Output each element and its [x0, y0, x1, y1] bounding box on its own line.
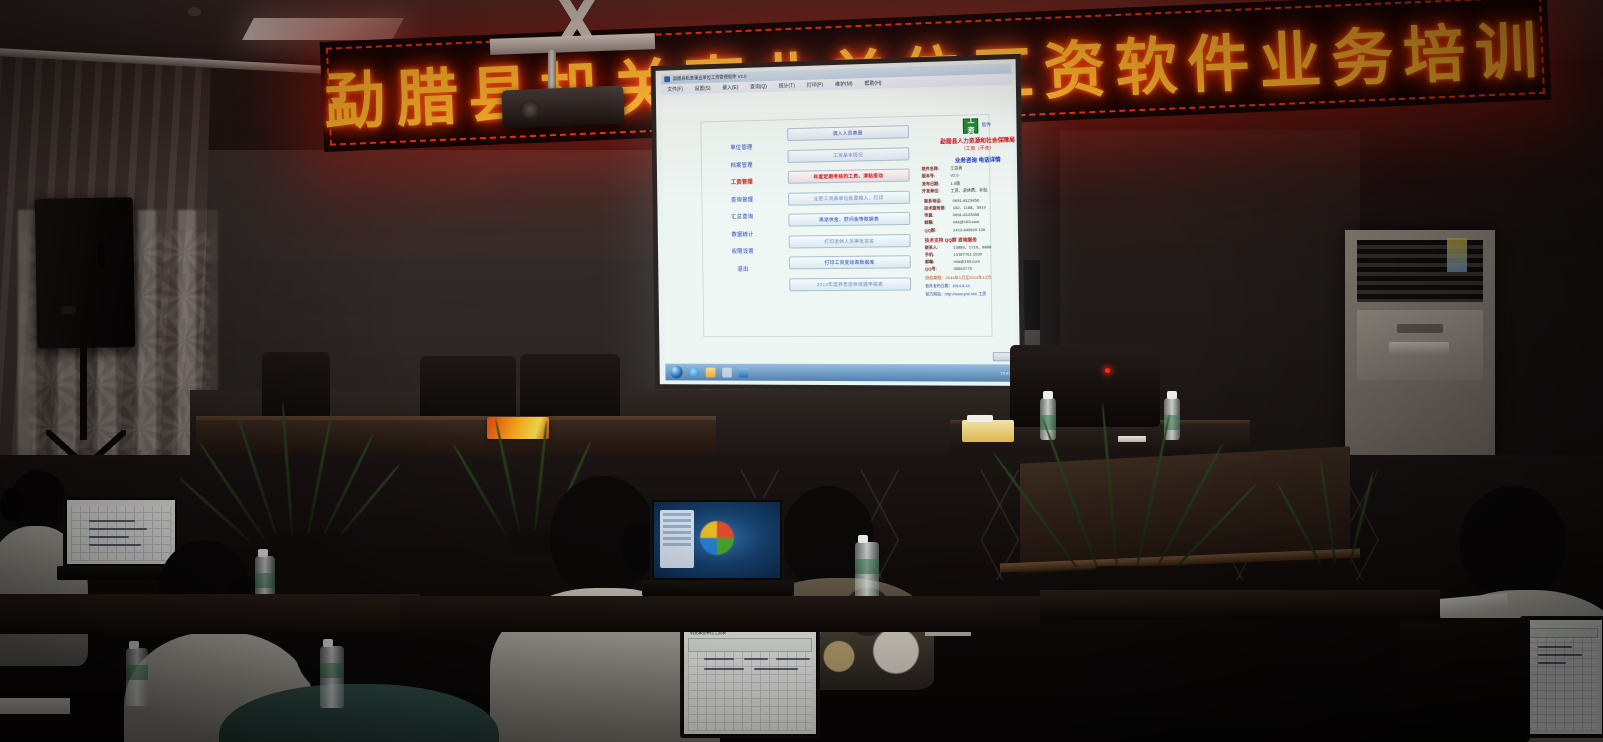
- equipment-power-led-icon: [1105, 368, 1110, 373]
- laptop-lid: 机关事业单位工资表: [680, 620, 820, 738]
- nav-item-query[interactable]: 查询管理: [731, 195, 753, 203]
- contact-key: 联系电话:: [924, 198, 951, 205]
- menu-item-print[interactable]: 打印(P): [807, 81, 824, 88]
- nav-item-unit[interactable]: 单位管理: [730, 143, 752, 151]
- ie-icon[interactable]: [689, 367, 699, 377]
- calculator-icon[interactable]: [722, 367, 732, 377]
- laptop-bag: [1400, 618, 1530, 742]
- info-subtitle: （工资（不含）: [921, 144, 1020, 153]
- app-left-nav[interactable]: 单位管理 档案管理 工资管理 查询管理 汇总查询 数据统计 权限设置 退出: [713, 143, 771, 273]
- screen-taskbar[interactable]: 15:41: [665, 364, 1016, 382]
- support-row: 联系人:13889、1719、8888: [925, 243, 1020, 250]
- button-salary-basics[interactable]: 工资基本情况: [787, 147, 909, 163]
- menu-item-query[interactable]: 查询(Q): [750, 83, 767, 90]
- contact-key: 邮箱:: [924, 220, 951, 226]
- handout-paper: [0, 698, 70, 714]
- attendee-desk-center: [400, 596, 1040, 632]
- info-field-value: V2.0: [950, 173, 959, 179]
- projection-screen-surface: 勐腊县机关事业单位工资管理软件 V2.0 文件(F) 设置(S) 录入(E) 查…: [656, 59, 1021, 386]
- projector: [501, 85, 624, 128]
- speaker-led: [62, 306, 76, 314]
- laptop-screen: [1524, 620, 1602, 734]
- contact-row: 传真:0691-8123456: [924, 211, 1020, 219]
- ceiling-light: [242, 18, 404, 40]
- ac-energy-label: [1447, 238, 1467, 272]
- app-logo-tag: 软件: [982, 122, 992, 128]
- info-support-block: 技术支持 QQ群 咨询服务 联系人:13889、1719、8888 手机:131…: [923, 236, 1021, 273]
- nav-item-statistics[interactable]: 数据统计: [731, 230, 753, 238]
- support-key: 邮箱:: [925, 259, 952, 265]
- menu-item-settings[interactable]: 设置(S): [694, 85, 710, 92]
- laptop-lid: [1520, 616, 1603, 738]
- support-value: 13187761.1030: [953, 251, 982, 257]
- button-print-retiree-list[interactable]: 打印退休人员审批花名: [789, 234, 911, 249]
- button-print-change-db[interactable]: 打印工资变动表数据库: [789, 255, 911, 269]
- contact-value: 152、1188、5919: [953, 204, 986, 211]
- info-section-heading: 业务咨询 电话详情: [921, 155, 1020, 166]
- info-footer-release: 软件发布日期：2014.6.13: [923, 284, 1020, 290]
- button-pension-table[interactable]: 离退休金、慰问金等数据表: [788, 212, 910, 227]
- laptop-screen-windows7-desktop: [654, 502, 780, 578]
- nav-item-summary[interactable]: 汇总查询: [731, 212, 753, 220]
- speaker-handle: [97, 242, 104, 268]
- bench-seat: [1040, 590, 1440, 620]
- support-row: 手机:13187761.1030: [925, 251, 1020, 258]
- support-value: 35624775: [954, 266, 972, 272]
- ac-brand-logo: [1397, 324, 1443, 333]
- contact-row: 邮箱:mla@163.com: [924, 218, 1020, 226]
- support-row: QQ号:35624775: [925, 265, 1020, 272]
- projector-stem: [548, 50, 556, 92]
- potted-plant-far-right: [1290, 450, 1400, 570]
- info-contact-block: 联系电话:0691-8123456 技术服务部:152、1188、5919 传真…: [922, 196, 1020, 233]
- attendee-hair: [0, 488, 24, 522]
- info-field-value: 工资、退休费、补贴: [950, 187, 987, 194]
- laptop-base: [642, 580, 794, 596]
- app-info-panel: 工资 软件 勐腊县人力资源和社会保障局 （工资（不含） 业务咨询 电话详情 软件…: [921, 116, 1020, 298]
- contact-row: 技术服务部:152、1188、5919: [924, 204, 1020, 212]
- support-row: 邮箱:mla@163.com: [925, 258, 1020, 265]
- support-key: 联系人:: [925, 244, 952, 250]
- contact-value: 2413-645620 126: [953, 226, 985, 233]
- laptop-screen-document: [1524, 620, 1602, 734]
- projection-screen: 勐腊县机关事业单位工资管理软件 V2.0 文件(F) 设置(S) 录入(E) 查…: [651, 54, 1026, 391]
- attendee-laptop-center: [650, 498, 790, 608]
- support-key: 手机:: [925, 252, 952, 258]
- contact-key: QQ群:: [924, 227, 951, 233]
- contact-row: QQ群:2413-645620 126: [924, 226, 1020, 234]
- nav-item-exit[interactable]: 退出: [737, 264, 748, 272]
- contact-key: 传真:: [924, 212, 951, 218]
- button-2014-declaration[interactable]: 2014年度养老退休待遇申报表: [789, 277, 911, 291]
- menu-item-entry[interactable]: 录入(E): [722, 84, 738, 91]
- contact-key: 技术服务部:: [924, 205, 951, 211]
- support-key: QQ号:: [925, 266, 952, 272]
- tissue-box-yellow: [962, 420, 1014, 442]
- info-footer-website: 官方网站：http://www.ynli.net/ 工资: [923, 292, 1020, 298]
- smoke-detector-icon: [188, 7, 201, 16]
- attendee-desk-left: [0, 594, 420, 634]
- support-title: 技术支持 QQ群 咨询服务: [925, 236, 1021, 243]
- water-bottle: [126, 648, 148, 706]
- contact-value: 0691-8123456: [953, 197, 980, 204]
- app-action-buttons[interactable]: 调入人员表册 工资基本情况 年度定期考核的工资、津贴变动 化肥工资表单位批量输入…: [787, 125, 911, 291]
- contact-value: mla@163.com: [953, 219, 980, 225]
- laptop-screen: 机关事业单位工资表: [684, 624, 816, 734]
- laptop-screen-spreadsheet: 机关事业单位工资表: [684, 624, 816, 734]
- app-logo-row: 工资 软件: [921, 116, 1020, 135]
- nav-item-salary[interactable]: 工资管理: [731, 178, 753, 186]
- laptop-lid: [650, 498, 784, 582]
- photo-scene: 勐腊县机关事业单位工资软件业务培训 勐腊县机关事业单位工资管理软件 V2.0 文…: [0, 0, 1603, 742]
- potted-plant-right: [1010, 400, 1270, 580]
- info-field-key: 发布日期:: [922, 180, 949, 187]
- speaker-stand-pole: [80, 344, 87, 440]
- folder-icon[interactable]: [706, 367, 716, 377]
- info-field-key: 软件名称:: [922, 166, 949, 173]
- start-button-icon[interactable]: [670, 366, 683, 379]
- contact-value: 0691-8123456: [953, 212, 980, 218]
- water-bottle: [855, 542, 879, 602]
- nav-item-permissions[interactable]: 权限设置: [732, 247, 754, 255]
- info-license-note: 授权期限：2014年1月至2014年12月: [923, 275, 1020, 282]
- menu-item-maintain[interactable]: 维护(M): [835, 80, 853, 88]
- projector-lens-icon: [520, 100, 541, 119]
- attendee-body: [219, 684, 499, 742]
- word-icon[interactable]: [739, 367, 749, 377]
- info-field-value: 1.0版: [950, 180, 960, 186]
- start-menu-panel: [660, 510, 694, 568]
- info-field-key: 开发单位:: [922, 188, 949, 195]
- button-annual-adjust[interactable]: 年度定期考核的工资、津贴变动: [788, 168, 910, 183]
- water-bottle: [320, 646, 344, 708]
- laptop-screen: [654, 502, 780, 578]
- menu-item-help[interactable]: 帮助(H): [864, 80, 881, 88]
- app-logo-icon: 工资: [963, 118, 979, 134]
- button-import-roster[interactable]: 调入人员表册: [787, 125, 909, 141]
- info-field-key: 版本号:: [922, 173, 949, 180]
- app-inner-panel: 单位管理 档案管理 工资管理 查询管理 汇总查询 数据统计 权限设置 退出 调入…: [700, 114, 992, 337]
- pa-speaker: [35, 197, 136, 349]
- button-batch-print[interactable]: 化肥工资表单位批量输入、打印: [788, 190, 910, 205]
- nav-item-archive[interactable]: 档案管理: [731, 160, 753, 168]
- app-title-text: 勐腊县机关事业单位工资管理软件 V2.0: [673, 74, 747, 82]
- menu-item-stats[interactable]: 统计(T): [779, 82, 795, 89]
- support-value: 13889、1719、8888: [953, 244, 991, 251]
- attendee-laptop-right: [1520, 616, 1603, 742]
- windows-logo-icon: [700, 521, 734, 555]
- app-body: 单位管理 档案管理 工资管理 查询管理 汇总查询 数据统计 权限设置 退出 调入…: [662, 85, 1016, 364]
- info-field-value: 工资表: [950, 166, 962, 172]
- potted-plant-left: [205, 398, 415, 548]
- attendee-head: [1460, 486, 1566, 598]
- app-icon: [664, 76, 670, 82]
- contact-row: 联系电话:0691-8123456: [924, 196, 1020, 204]
- ac-display: [1389, 342, 1449, 354]
- menu-item-file[interactable]: 文件(F): [667, 86, 683, 93]
- info-field-row: 开发单位:工资、退休费、补贴: [922, 186, 1020, 194]
- ac-control-panel: [1357, 310, 1483, 380]
- support-value: mla@163.com: [953, 259, 980, 265]
- attendee-laptop-front: 机关事业单位工资表: [680, 620, 825, 742]
